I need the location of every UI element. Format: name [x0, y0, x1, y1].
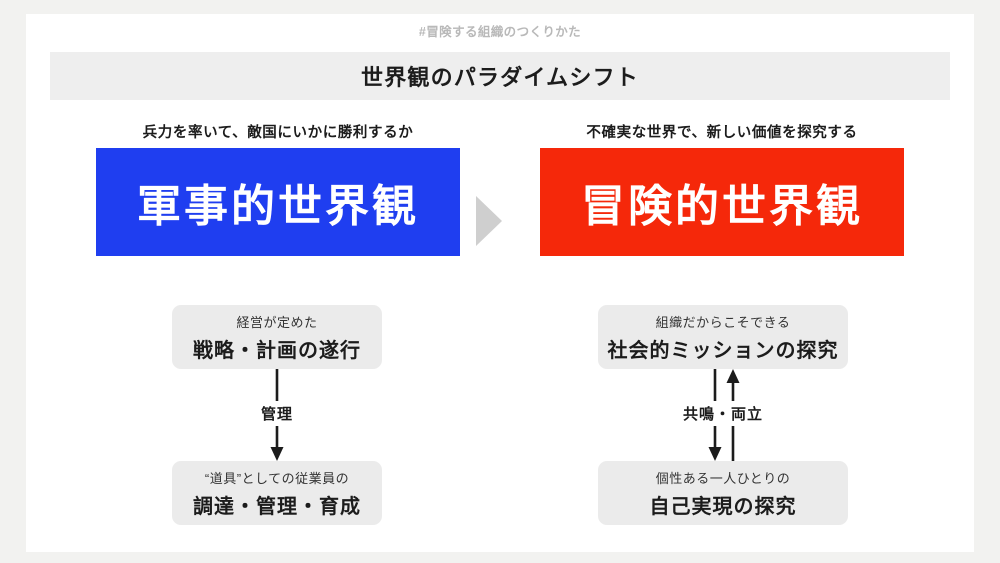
- connector-military: 管理: [197, 369, 357, 461]
- connector-label-adventure: 共鳴・両立: [643, 401, 803, 426]
- column-adventure: 不確実な世界で、新しい価値を探究する 冒険的世界観: [540, 118, 904, 256]
- banner-label-military: 軍事的世界観: [137, 170, 419, 234]
- box-adventure-bottom: 個性ある一人ひとりの 自己実現の探究: [598, 461, 848, 525]
- box-title: 社会的ミッションの探究: [608, 334, 839, 363]
- box-subtitle: “道具”としての従業員の: [205, 468, 349, 487]
- box-military-top: 経営が定めた 戦略・計画の遂行: [172, 305, 382, 369]
- page-title: 世界観のパラダイムシフト: [361, 60, 639, 92]
- slide-title-bar: 世界観のパラダイムシフト: [50, 52, 950, 100]
- column-military: 兵力を率いて、敵国にいかに勝利するか 軍事的世界観: [96, 118, 460, 256]
- triangle-right-icon: [476, 196, 502, 246]
- banner-adventure: 冒険的世界観: [540, 148, 904, 256]
- box-subtitle: 経営が定めた: [236, 312, 317, 331]
- box-adventure-top: 組織だからこそできる 社会的ミッションの探究: [598, 305, 848, 369]
- box-title: 自己実現の探究: [650, 490, 797, 519]
- column-caption-adventure: 不確実な世界で、新しい価値を探究する: [540, 118, 904, 148]
- connector-adventure: 共鳴・両立: [643, 369, 803, 461]
- box-subtitle: 個性ある一人ひとりの: [656, 468, 791, 487]
- connector-label-military: 管理: [197, 401, 357, 426]
- box-subtitle: 組織だからこそできる: [656, 312, 791, 331]
- box-title: 調達・管理・育成: [193, 490, 361, 519]
- box-military-bottom: “道具”としての従業員の 調達・管理・育成: [172, 461, 382, 525]
- column-caption-military: 兵力を率いて、敵国にいかに勝利するか: [96, 118, 460, 148]
- banner-military: 軍事的世界観: [96, 148, 460, 256]
- slide: #冒険する組織のつくりかた 世界観のパラダイムシフト 兵力を率いて、敵国にいかに…: [0, 0, 1000, 563]
- slide-hashtag: #冒険する組織のつくりかた: [0, 21, 1000, 40]
- banner-label-adventure: 冒険的世界観: [581, 170, 863, 234]
- box-title: 戦略・計画の遂行: [193, 334, 361, 363]
